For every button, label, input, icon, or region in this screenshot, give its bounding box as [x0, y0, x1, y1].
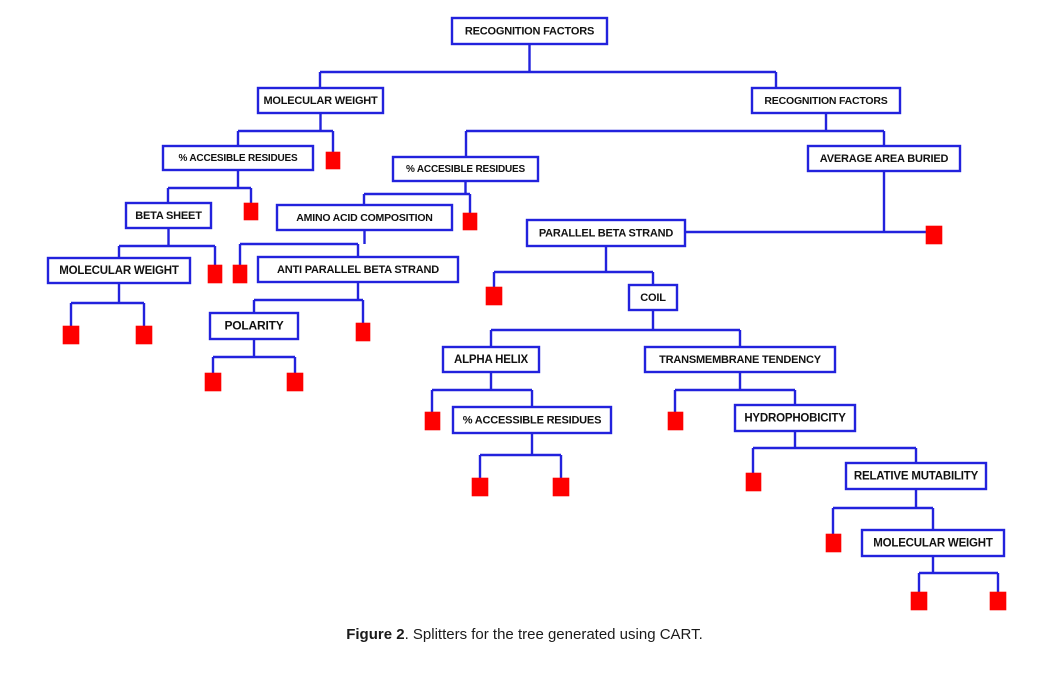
splitter-node-label: % ACCESSIBLE RESIDUES — [463, 414, 601, 426]
splitter-node[interactable]: MOLECULAR WEIGHT — [862, 530, 1004, 556]
splitter-node[interactable]: MOLECULAR WEIGHT — [48, 258, 190, 283]
figure-caption: Figure 2. Splitters for the tree generat… — [0, 626, 1049, 643]
terminal-node[interactable] — [136, 326, 152, 344]
splitter-node-label: MOLECULAR WEIGHT — [59, 265, 179, 277]
splitter-node[interactable]: BETA SHEET — [126, 203, 211, 228]
decision-tree-diagram: RECOGNITION FACTORSMOLECULAR WEIGHTRECOG… — [0, 0, 1049, 612]
splitter-node-label: % ACCESIBLE RESIDUES — [179, 153, 299, 164]
terminal-node-square — [63, 326, 79, 344]
splitter-node-label: COIL — [640, 292, 666, 304]
tree-edge — [71, 283, 144, 326]
splitter-node[interactable]: PARALLEL BETA STRAND — [527, 220, 685, 246]
splitter-node[interactable]: ANTI PARALLEL BETA STRAND — [258, 257, 458, 282]
splitter-node[interactable]: AMINO ACID COMPOSITION — [277, 205, 452, 230]
terminal-node[interactable] — [63, 326, 79, 344]
tree-edge — [833, 489, 933, 534]
splitter-node-label: RECOGNITION FACTORS — [764, 95, 887, 107]
terminal-node-square — [136, 326, 152, 344]
tree-edge — [320, 44, 776, 88]
splitter-node-label: ANTI PARALLEL BETA STRAND — [277, 264, 439, 276]
tree-edge — [480, 433, 561, 478]
terminal-node[interactable] — [356, 323, 370, 341]
splitter-node[interactable]: % ACCESSIBLE RESIDUES — [453, 407, 611, 433]
tree-edge — [919, 556, 998, 592]
splitter-node-label: PARALLEL BETA STRAND — [539, 227, 674, 239]
terminal-node[interactable] — [287, 373, 303, 391]
terminal-node[interactable] — [326, 152, 340, 169]
splitter-node-label: MOLECULAR WEIGHT — [873, 538, 993, 550]
terminal-node[interactable] — [990, 592, 1006, 610]
terminal-node[interactable] — [746, 473, 761, 491]
splitter-node-label: ALPHA HELIX — [454, 354, 529, 366]
terminal-node-square — [425, 412, 440, 430]
terminal-node-square — [486, 287, 502, 305]
terminal-node-square — [244, 203, 258, 220]
terminal-node-square — [553, 478, 569, 496]
splitter-node-label: MOLECULAR WEIGHT — [263, 95, 378, 107]
splitter-node[interactable]: RELATIVE MUTABILITY — [846, 463, 986, 489]
terminal-node-square — [746, 473, 761, 491]
splitter-node-label: RECOGNITION FACTORS — [465, 25, 594, 37]
splitter-node-label: AVERAGE AREA BURIED — [820, 153, 949, 165]
terminal-node-square — [205, 373, 221, 391]
terminal-node-square — [926, 226, 942, 244]
terminal-node-square — [233, 265, 247, 283]
splitter-nodes-group: RECOGNITION FACTORSMOLECULAR WEIGHTRECOG… — [48, 18, 1004, 556]
terminal-node-square — [911, 592, 927, 610]
terminal-node-square — [463, 213, 477, 230]
splitter-node[interactable]: MOLECULAR WEIGHT — [258, 88, 383, 113]
figure-container: RECOGNITION FACTORSMOLECULAR WEIGHTRECOG… — [0, 0, 1049, 673]
splitter-node-label: % ACCESIBLE RESIDUES — [406, 164, 526, 175]
tree-edge — [494, 246, 653, 287]
tree-edge — [491, 310, 740, 347]
terminal-node-square — [287, 373, 303, 391]
terminal-node-square — [826, 534, 841, 552]
terminal-node-square — [668, 412, 683, 430]
figure-caption-text: . Splitters for the tree generated using… — [405, 626, 703, 643]
splitter-node[interactable]: TRANSMEMBRANE TENDENCY — [645, 347, 835, 372]
terminal-node[interactable] — [553, 478, 569, 496]
splitter-node[interactable]: ALPHA HELIX — [443, 347, 539, 372]
figure-caption-label: Figure 2 — [346, 626, 404, 643]
splitter-node[interactable]: RECOGNITION FACTORS — [752, 88, 900, 113]
terminal-node-square — [990, 592, 1006, 610]
terminal-node[interactable] — [208, 265, 222, 283]
terminal-node[interactable] — [233, 265, 247, 283]
terminal-node[interactable] — [463, 213, 477, 230]
splitter-node-label: BETA SHEET — [135, 210, 202, 222]
tree-edge — [213, 339, 295, 373]
splitter-node[interactable]: RECOGNITION FACTORS — [452, 18, 607, 44]
terminal-node-square — [326, 152, 340, 169]
terminal-node[interactable] — [425, 412, 440, 430]
splitter-node[interactable]: COIL — [629, 285, 677, 310]
tree-edge — [168, 170, 251, 203]
splitter-node-label: POLARITY — [224, 319, 283, 333]
splitter-node[interactable]: HYDROPHOBICITY — [735, 405, 855, 431]
terminal-node-square — [208, 265, 222, 283]
splitter-node-label: RELATIVE MUTABILITY — [854, 471, 979, 483]
splitter-node-label: TRANSMEMBRANE TENDENCY — [659, 354, 822, 366]
terminal-node[interactable] — [826, 534, 841, 552]
terminal-node[interactable] — [472, 478, 488, 496]
terminal-node[interactable] — [205, 373, 221, 391]
terminal-node[interactable] — [486, 287, 502, 305]
splitter-node[interactable]: POLARITY — [210, 313, 298, 339]
terminal-node[interactable] — [668, 412, 683, 430]
terminal-node[interactable] — [244, 203, 258, 220]
terminal-node[interactable] — [911, 592, 927, 610]
terminal-node[interactable] — [926, 226, 942, 244]
splitter-node[interactable]: % ACCESIBLE RESIDUES — [393, 157, 538, 181]
splitter-node-label: AMINO ACID COMPOSITION — [296, 212, 432, 224]
splitter-node[interactable]: AVERAGE AREA BURIED — [808, 146, 960, 171]
splitter-node[interactable]: % ACCESIBLE RESIDUES — [163, 146, 313, 170]
terminal-node-square — [472, 478, 488, 496]
terminal-node-square — [356, 323, 370, 341]
splitter-node-label: HYDROPHOBICITY — [744, 413, 846, 425]
